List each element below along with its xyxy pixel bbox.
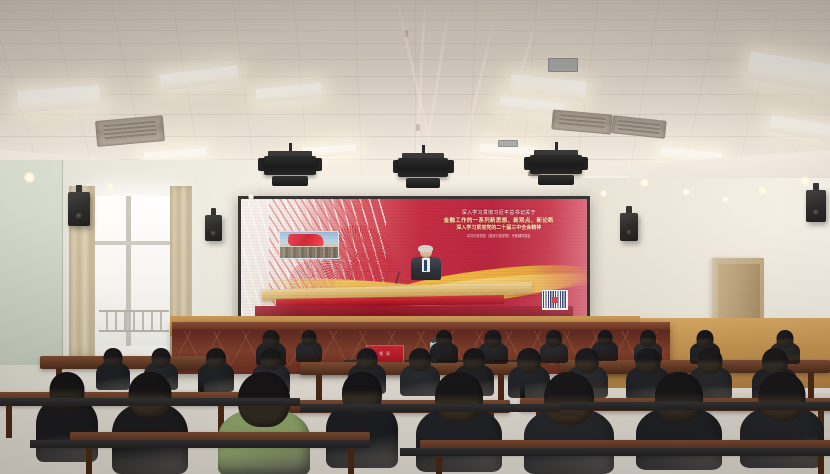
audience-member xyxy=(326,372,398,468)
unit-body xyxy=(264,156,316,175)
person-head xyxy=(759,372,806,421)
speaker-cabinet xyxy=(205,215,222,241)
person-head xyxy=(598,330,613,346)
unit-lower-body xyxy=(406,178,440,188)
ceiling-projector-unit xyxy=(398,145,448,191)
conference-room-photo: 安全出口 深入学习贯彻习近平总书记关于 金融工作的一系列新思想、新观点、新论断 … xyxy=(0,0,830,474)
speaker-cabinet xyxy=(806,190,826,222)
person-head xyxy=(436,330,452,347)
recessed-downlight xyxy=(24,172,35,183)
inset-photo-flag-cityscape xyxy=(279,231,339,259)
presenter-hair xyxy=(418,245,433,252)
recessed-downlight xyxy=(682,188,690,196)
broadcast-headline-line1: 深入学习贯彻习近平总书记关于 xyxy=(421,210,577,217)
ceiling-projector-unit xyxy=(530,142,582,188)
presenter-figure xyxy=(409,246,443,280)
person-head xyxy=(777,330,794,348)
speaker-cabinet xyxy=(68,192,90,226)
recessed-downlight xyxy=(800,176,810,186)
person-head xyxy=(655,372,703,422)
ceiling-panel-light xyxy=(159,65,238,90)
flag-icon xyxy=(287,234,325,246)
person-head xyxy=(698,348,723,374)
audience-member xyxy=(218,372,310,474)
unit-lower-body xyxy=(272,176,307,186)
recessed-downlight xyxy=(106,182,114,190)
person-head xyxy=(261,348,282,370)
person-head xyxy=(129,372,172,417)
laser-streak xyxy=(426,8,450,147)
unit-body xyxy=(530,155,582,174)
audience-member xyxy=(112,372,188,474)
person-head xyxy=(302,330,317,346)
ceiling-panel-light xyxy=(17,85,100,113)
recessed-downlight xyxy=(722,196,729,203)
person-head xyxy=(575,348,599,373)
person-head xyxy=(762,348,788,375)
bench-leg xyxy=(348,444,354,474)
ac-vent xyxy=(551,109,613,134)
person-head xyxy=(409,348,431,371)
desk-plank xyxy=(560,402,830,410)
person-head xyxy=(357,348,378,370)
ceiling-panel-light xyxy=(509,74,587,102)
desk-plank xyxy=(30,440,370,448)
wall-speaker xyxy=(68,192,90,226)
broadcast-subline: 中共中央党校（国家行政学院）专题辅导报告 xyxy=(421,233,577,239)
speaker-driver-icon xyxy=(211,231,215,235)
speaker-driver-icon xyxy=(76,213,82,219)
wall-speaker xyxy=(806,190,826,222)
presenter-tie xyxy=(424,260,426,271)
recessed-downlight xyxy=(758,186,767,195)
speaker-cabinet xyxy=(620,213,638,241)
desk-plank xyxy=(0,398,300,406)
person-head xyxy=(517,348,541,373)
wall-speaker xyxy=(620,213,638,241)
person-head xyxy=(636,348,661,374)
person-head xyxy=(546,330,562,347)
window-mullion-horizontal xyxy=(95,241,173,245)
person-head xyxy=(640,330,656,347)
ac-vent xyxy=(95,115,165,147)
recessed-downlight xyxy=(640,178,649,187)
person-head xyxy=(152,348,171,368)
person-head xyxy=(435,372,483,422)
person-head xyxy=(697,330,714,348)
audience-area xyxy=(0,300,830,474)
audience-member xyxy=(296,330,322,362)
person-head xyxy=(544,372,594,425)
bench-leg xyxy=(6,404,12,438)
unit-lower-body xyxy=(538,175,573,185)
speaker-driver-icon xyxy=(813,210,818,215)
ceiling-small-vent xyxy=(548,58,578,72)
audience-member xyxy=(416,372,502,472)
speaker-driver-icon xyxy=(627,230,632,235)
broadcast-headline-line2: 金融工作的一系列新思想、新观点、新论断 xyxy=(421,217,577,225)
person-head xyxy=(485,330,502,348)
ceiling-projector-unit xyxy=(264,143,316,189)
bench-seat xyxy=(40,356,220,369)
recessed-downlight xyxy=(248,194,254,200)
desk-plank xyxy=(400,448,830,456)
audience-member xyxy=(524,372,614,474)
bench-leg xyxy=(86,444,92,474)
unit-body xyxy=(398,158,448,177)
broadcast-headline-line3: 深入学习贯彻党的二十届三中全会精神 xyxy=(421,225,577,232)
wall-speaker xyxy=(205,215,222,241)
person-head xyxy=(463,348,485,371)
person-head xyxy=(206,348,226,369)
person-head xyxy=(263,330,280,348)
recessed-downlight xyxy=(600,190,607,197)
ceiling-panel-light xyxy=(255,83,322,104)
cityscape-silhouette xyxy=(280,247,338,258)
desk-plank xyxy=(300,404,560,412)
person-head xyxy=(104,348,123,368)
